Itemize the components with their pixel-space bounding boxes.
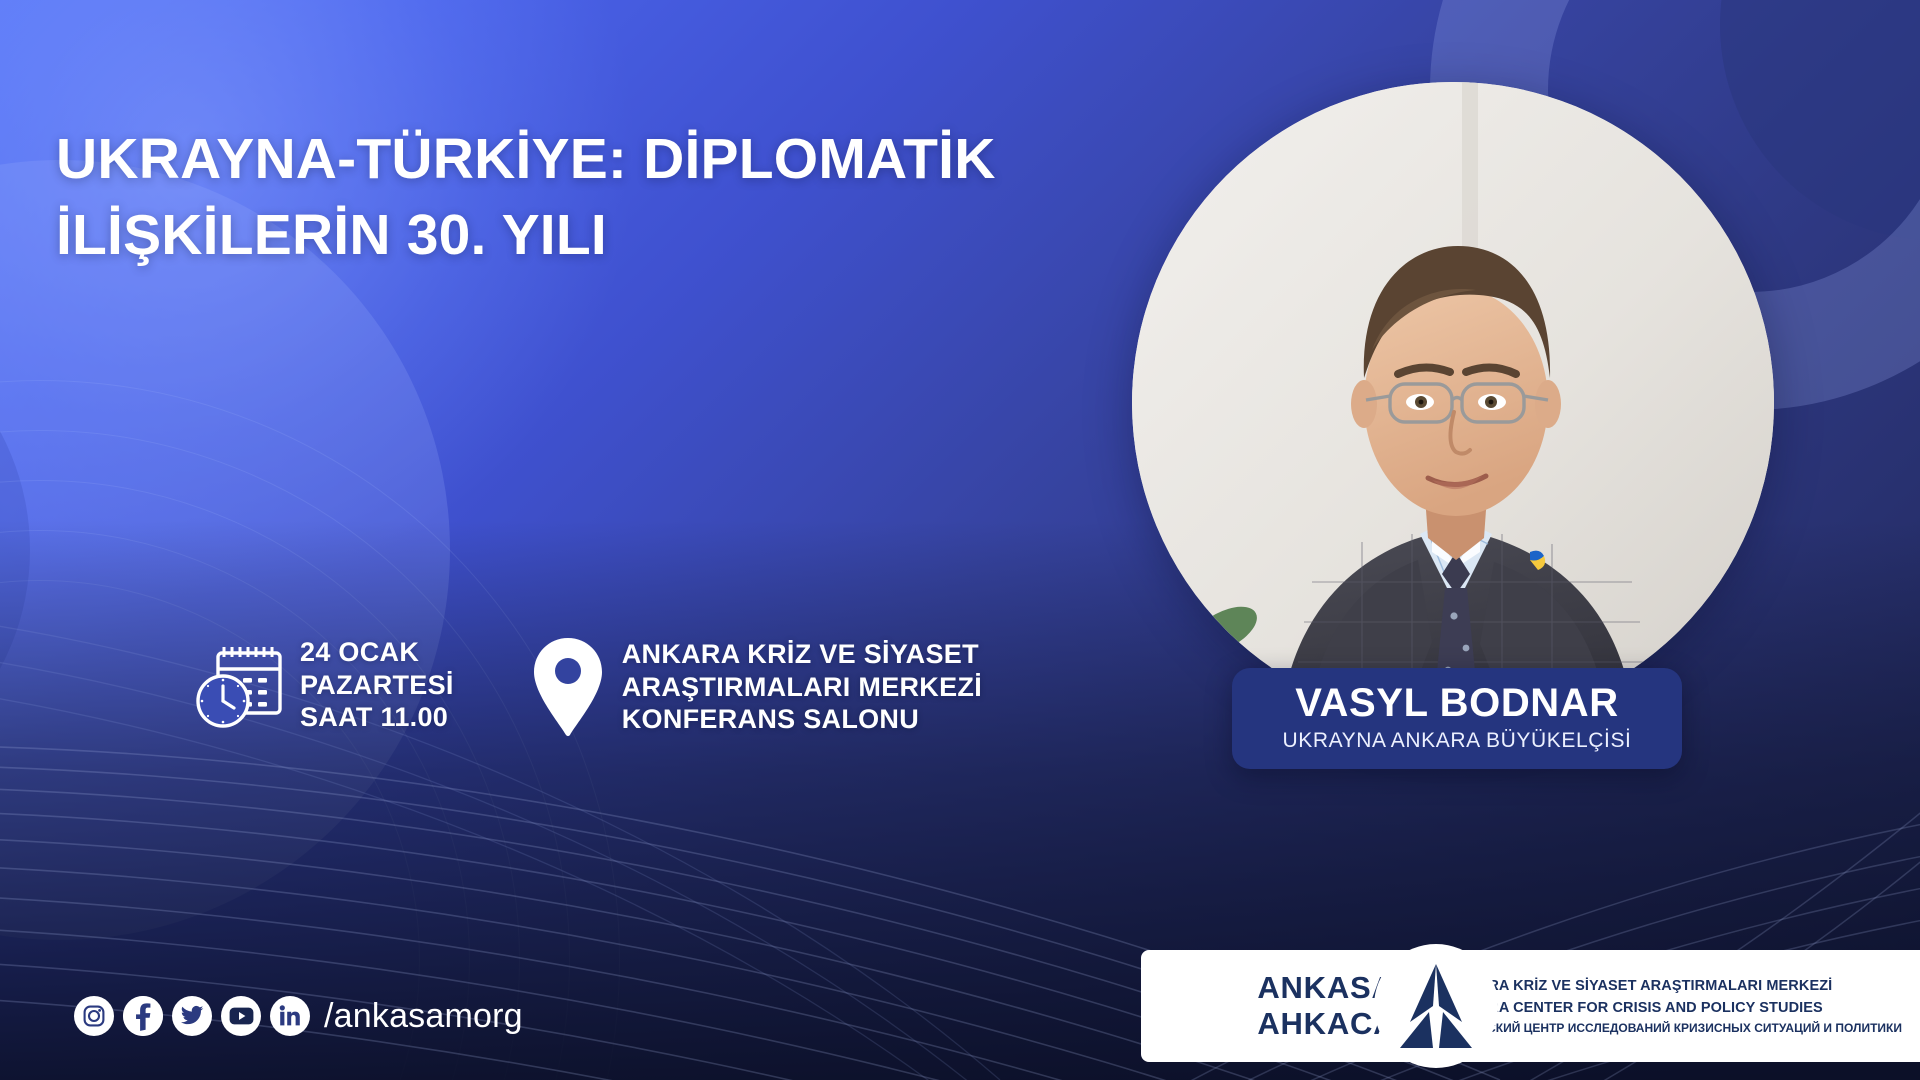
event-venue-line-1: ANKARA KRİZ VE SİYASET [622, 638, 982, 671]
event-venue-line-2: ARAŞTIRMALARI MERKEZİ [622, 671, 982, 704]
linkedin-icon[interactable] [270, 996, 310, 1036]
event-poster: UKRAYNA-TÜRKİYE: DİPLOMATİK İLİŞKİLERİN … [0, 0, 1920, 1080]
speaker-name-badge: VASYL BODNAR UKRAYNA ANKARA BÜYÜKELÇİSİ [1232, 668, 1682, 769]
event-venue-block: ANKARA KRİZ VE SİYASET ARAŞTIRMALARI MER… [532, 636, 982, 738]
logo-line-en: ANKARA CENTER FOR CRISIS AND POLICY STUD… [1446, 997, 1902, 1019]
event-venue-text: ANKARA KRİZ VE SİYASET ARAŞTIRMALARI MER… [622, 638, 982, 736]
facebook-icon[interactable] [123, 996, 163, 1036]
event-date-line-2: PAZARTESİ [300, 669, 454, 702]
event-date-block: 24 OCAK PAZARTESİ SAAT 11.00 [196, 636, 454, 734]
youtube-icon[interactable] [221, 996, 261, 1036]
ankasam-triangle-a-icon [1388, 960, 1484, 1052]
speaker-portrait [1132, 82, 1774, 724]
speaker-role: UKRAYNA ANKARA BÜYÜKELÇİSİ [1250, 729, 1664, 753]
event-date-line-1: 24 OCAK [300, 636, 454, 669]
event-date-text: 24 OCAK PAZARTESİ SAAT 11.00 [300, 636, 454, 734]
left-inner-circle [0, 300, 30, 800]
ankasam-logo-badge [1374, 944, 1498, 1068]
headline-line-2: İLİŞKİLERİN 30. YILI [56, 198, 1056, 274]
instagram-icon[interactable] [74, 996, 114, 1036]
page-title: UKRAYNA-TÜRKİYE: DİPLOMATİK İLİŞKİLERİN … [56, 122, 1056, 274]
social-links: /ankasamorg [74, 996, 523, 1036]
speaker-name: VASYL BODNAR [1250, 682, 1664, 724]
social-handle[interactable]: /ankasamorg [324, 997, 523, 1036]
event-date-line-3: SAAT 11.00 [300, 701, 454, 734]
left-light-circle [0, 160, 450, 940]
speaker-photo [1132, 82, 1774, 724]
top-left-glow [0, 0, 640, 600]
event-venue-line-3: KONFERANS SALONU [622, 703, 982, 736]
twitter-icon[interactable] [172, 996, 212, 1036]
ankasam-fullname-lines: ANKARA KRİZ VE SİYASET ARAŞTIRMALARI MER… [1446, 975, 1902, 1037]
calendar-clock-icon [196, 639, 284, 731]
logo-line-ru: АНКАРСКИЙ ЦЕНТР ИССЛЕДОВАНИЙ КРИЗИСНЫХ С… [1446, 1019, 1902, 1037]
location-pin-icon [532, 636, 604, 738]
logo-line-tr: ANKARA KRİZ VE SİYASET ARAŞTIRMALARI MER… [1446, 975, 1902, 997]
headline-line-1: UKRAYNA-TÜRKİYE: DİPLOMATİK [56, 122, 1056, 198]
ankasam-logo-bar: ANKASAM AHKACAM ANKARA KRİZ VE SİYASET A… [1141, 950, 1920, 1062]
event-details: 24 OCAK PAZARTESİ SAAT 11.00 ANKARA KRİZ… [196, 636, 982, 738]
top-right-blob [1720, 0, 1920, 240]
